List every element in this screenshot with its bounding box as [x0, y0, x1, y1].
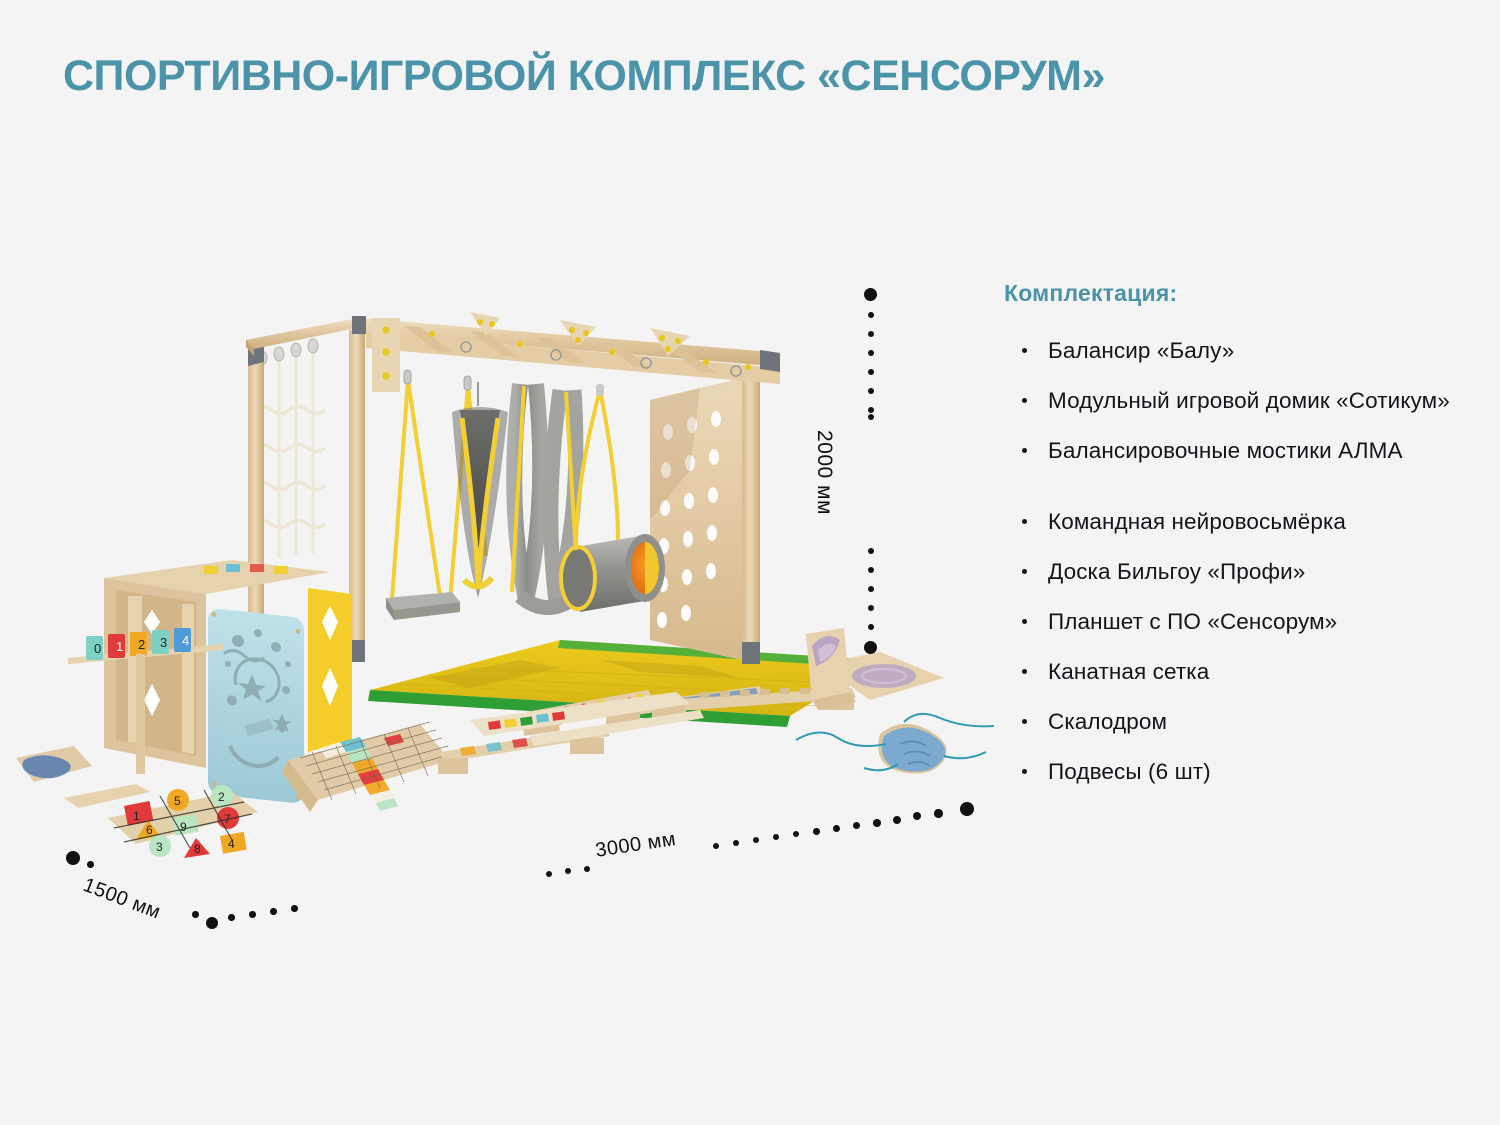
- platform-swing-seat: [386, 592, 460, 620]
- list-item-label: Модульный игровой домик «Сотикум»: [1048, 388, 1450, 413]
- bullet-icon: [1022, 769, 1027, 774]
- list-item: Планшет с ПО «Сенсорум»: [1018, 607, 1468, 636]
- kit-list: Балансир «Балу» Модульный игровой домик …: [1018, 336, 1468, 807]
- svg-text:1: 1: [133, 809, 140, 823]
- bullet-icon: [1022, 398, 1027, 403]
- climbing-wall: [650, 378, 742, 660]
- list-item: Подвесы (6 шт): [1018, 757, 1468, 786]
- list-item-label: Доска Бильгоу «Профи»: [1048, 559, 1305, 584]
- svg-text:8: 8: [194, 842, 201, 856]
- kit-heading: Комплектация:: [1004, 280, 1177, 307]
- list-item-label: Канатная сетка: [1048, 659, 1209, 684]
- house-panel-yellow: [308, 588, 352, 752]
- svg-text:4: 4: [182, 633, 189, 648]
- svg-text:5: 5: [174, 794, 181, 808]
- bullet-icon: [1022, 669, 1027, 674]
- svg-text:1: 1: [116, 639, 123, 654]
- list-item-label: Балансир «Балу»: [1048, 338, 1234, 363]
- list-item: Модульный игровой домик «Сотикум»: [1018, 386, 1468, 415]
- list-item-label: Подвесы (6 шт): [1048, 759, 1211, 784]
- dim-endpoint-dot: [960, 802, 974, 816]
- list-item: Балансир «Балу»: [1018, 336, 1468, 365]
- bullet-icon: [1022, 448, 1027, 453]
- bullet-icon: [1022, 719, 1027, 724]
- svg-text:0: 0: [94, 641, 101, 656]
- list-item: Скалодром: [1018, 707, 1468, 736]
- dimension-height-label: 2000 мм: [812, 430, 836, 515]
- bullet-icon: [1022, 569, 1027, 574]
- product-illustration: 0 1 2 3 4: [0, 0, 1000, 1000]
- hammock-swing: [452, 382, 508, 598]
- dim-endpoint-dot: [864, 641, 877, 654]
- list-item-label: Балансировочные мостики АЛМА: [1048, 438, 1403, 463]
- list-item-label: Командная нейровосьмёрка: [1048, 509, 1346, 534]
- svg-text:6: 6: [146, 823, 153, 837]
- slide-root: СПОРТИВНО-ИГРОВОЙ КОМПЛЕКС «СЕНСОРУМ»: [0, 0, 1500, 1125]
- svg-text:3: 3: [156, 840, 163, 854]
- dim-endpoint-dot: [206, 917, 218, 929]
- top-frame: [246, 312, 780, 392]
- dim-endpoint-dot: [66, 851, 80, 865]
- dim-endpoint-dot: [864, 288, 877, 301]
- bullet-icon: [1022, 619, 1027, 624]
- balu-balancer: [806, 628, 944, 710]
- list-item: Командная нейровосьмёрка: [1018, 507, 1468, 536]
- list-item: Балансировочные мостики АЛМА: [1018, 436, 1468, 465]
- frame-post-front-left: [248, 344, 264, 650]
- list-item-label: Скалодром: [1048, 709, 1167, 734]
- svg-text:3: 3: [160, 635, 167, 650]
- bullet-icon: [1022, 348, 1027, 353]
- list-item: Канатная сетка: [1018, 657, 1468, 686]
- list-item-label: Планшет с ПО «Сенсорум»: [1048, 609, 1337, 634]
- list-item: Доска Бильгоу «Профи»: [1018, 557, 1468, 586]
- svg-text:2: 2: [138, 637, 145, 652]
- suspensions: [386, 370, 665, 620]
- bullet-icon: [1022, 519, 1027, 524]
- svg-text:2: 2: [218, 790, 225, 804]
- bilgow-board: [282, 722, 452, 812]
